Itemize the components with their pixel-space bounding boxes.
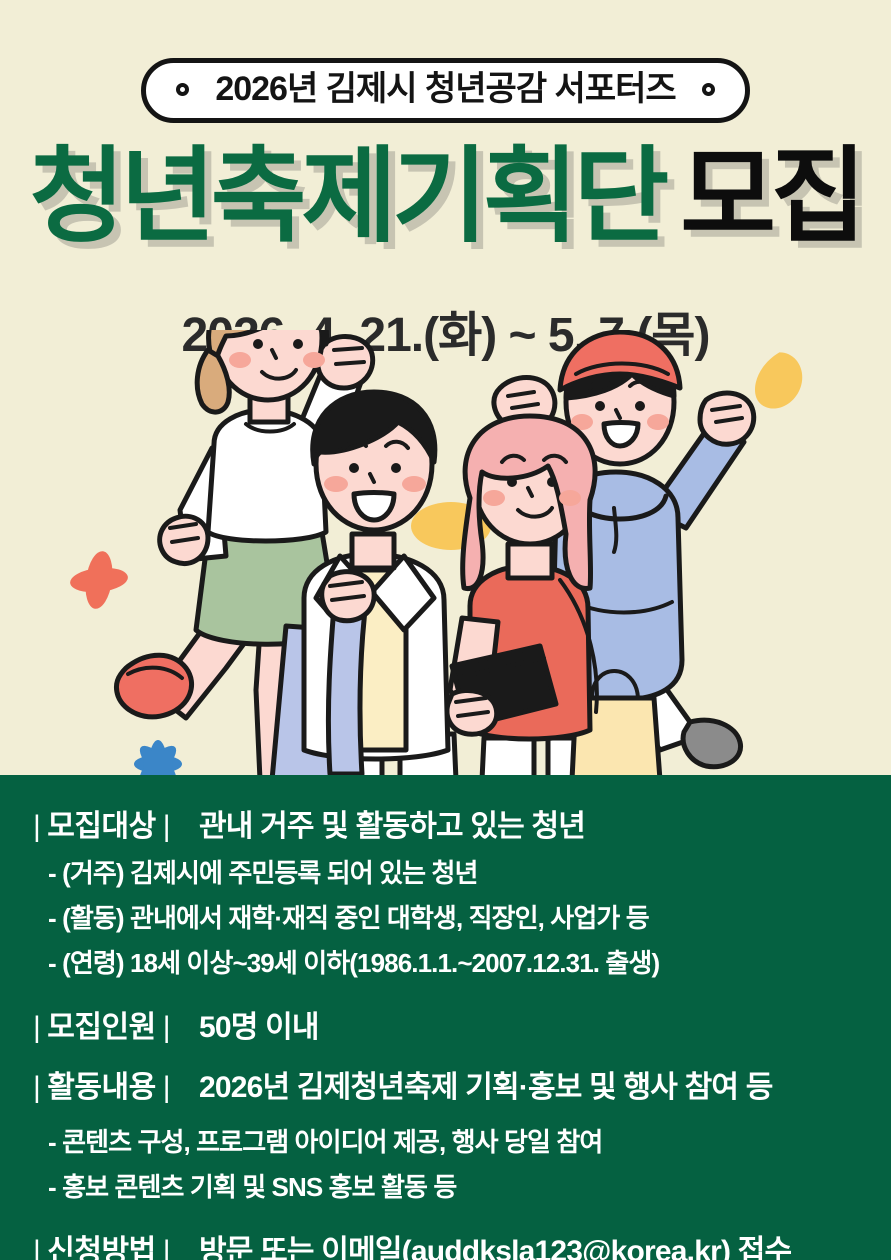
coral-cross-icon	[69, 549, 129, 610]
title-green-text: 청년축제기획단	[29, 139, 664, 255]
title-black-text: 모집	[680, 139, 861, 255]
info-bullet-target-2: - (활동) 관내에서 재학·재직 중인 대학생, 직장인, 사업가 등	[48, 898, 865, 935]
info-value-activity: 2026년 김제청년축제 기획·홍보 및 행사 참여 등	[199, 1062, 773, 1106]
info-value-target: 관내 거주 및 활동하고 있는 청년	[199, 801, 585, 845]
info-bullet-target-1: - (거주) 김제시에 주민등록 되어 있는 청년	[48, 853, 865, 890]
illustration: .ol{stroke:#1a1a1a;stroke-width:5;stroke…	[0, 330, 891, 780]
info-bullet-target-3: - (연령) 18세 이상~39세 이하(1986.1.1.~2007.12.3…	[48, 943, 865, 980]
info-label-target: |모집대상|	[26, 801, 177, 845]
info-row-activity: |활동내용| 2026년 김제청년축제 기획·홍보 및 행사 참여 등	[26, 1062, 865, 1106]
info-label-quota: |모집인원|	[26, 1002, 177, 1046]
divider-right: |	[156, 810, 177, 843]
info-row-target: |모집대상| 관내 거주 및 활동하고 있는 청년	[26, 801, 865, 845]
info-bullet-activity-2: - 홍보 콘텐츠 기획 및 SNS 홍보 활동 등	[48, 1167, 865, 1204]
header-badge: 2026년 김제시 청년공감 서포터즈	[141, 58, 749, 123]
blue-flower-left-icon	[134, 740, 182, 780]
divider-right: |	[156, 1071, 177, 1104]
info-label-quota-text: 모집인원	[47, 1011, 155, 1044]
circle-dot-icon-right	[702, 83, 715, 96]
info-value-apply: 방문 또는 이메일(auddksla123@korea.kr) 접수	[199, 1226, 791, 1260]
page-title: 청년축제기획단모집	[0, 143, 891, 252]
poster: 2026년 김제시 청년공감 서포터즈 청년축제기획단모집 2026. 4. 2…	[0, 0, 891, 1260]
yellow-leaf-icon	[744, 347, 812, 414]
info-label-activity: |활동내용|	[26, 1062, 177, 1106]
divider-left: |	[26, 810, 47, 843]
info-value-quota: 50명 이내	[199, 1002, 319, 1046]
divider-left: |	[26, 1235, 47, 1260]
divider-right: |	[156, 1011, 177, 1044]
info-label-activity-text: 활동내용	[47, 1071, 155, 1104]
divider-left: |	[26, 1071, 47, 1104]
info-label-apply-text: 신청방법	[47, 1235, 155, 1260]
info-label-apply: |신청방법|	[26, 1226, 177, 1260]
info-bullet-activity-1: - 콘텐츠 구성, 프로그램 아이디어 제공, 행사 당일 참여	[48, 1122, 865, 1159]
circle-dot-icon-left	[176, 83, 189, 96]
info-panel: |모집대상| 관내 거주 및 활동하고 있는 청년 - (거주) 김제시에 주민…	[0, 775, 891, 1260]
badge-label: 2026년 김제시 청년공감 서포터즈	[215, 72, 675, 106]
info-label-target-text: 모집대상	[47, 810, 155, 843]
badge-container: 2026년 김제시 청년공감 서포터즈	[0, 58, 891, 123]
info-row-apply: |신청방법| 방문 또는 이메일(auddksla123@korea.kr) 접…	[26, 1226, 865, 1260]
divider-left: |	[26, 1011, 47, 1044]
info-row-quota: |모집인원| 50명 이내	[26, 1002, 865, 1046]
divider-right: |	[156, 1235, 177, 1260]
